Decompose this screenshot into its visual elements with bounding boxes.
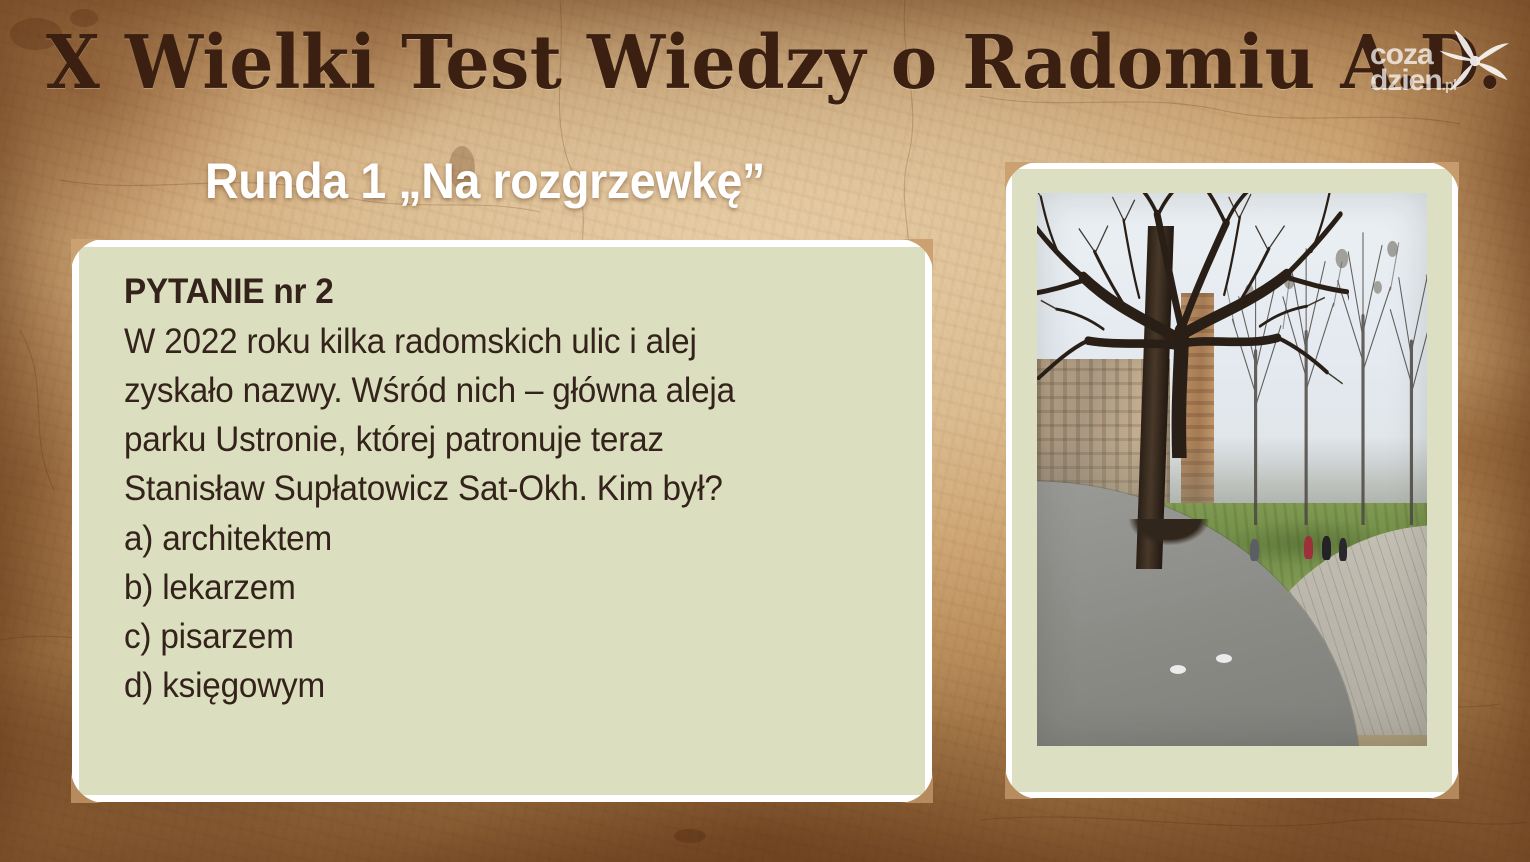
watermark-logo: coza dzien.pl — [1362, 22, 1514, 114]
question-content: PYTANIE nr 2 W 2022 roku kilka radomskic… — [124, 272, 906, 710]
question-body: W 2022 roku kilka radomskich ulic i alej… — [124, 317, 867, 513]
answer-option-c[interactable]: c) pisarzem — [124, 612, 867, 661]
quiz-slide: X Wielki Test Wiedzy o Radomiu A.D. 2023… — [0, 0, 1530, 862]
round-subtitle: Runda 1 „Na rozgrzewkę” — [205, 155, 765, 208]
question-heading: PYTANIE nr 2 — [124, 272, 867, 311]
page-title: X Wielki Test Wiedzy o Radomiu A.D. 2023 — [46, 26, 1484, 100]
pinwheel-flower-icon — [1438, 24, 1512, 98]
answer-option-d[interactable]: d) księgowym — [124, 661, 867, 710]
question-card: PYTANIE nr 2 W 2022 roku kilka radomskic… — [72, 240, 932, 802]
answer-option-b[interactable]: b) lekarzem — [124, 563, 867, 612]
answer-options-list: a) architektem b) lekarzem c) pisarzem d… — [124, 514, 867, 710]
answer-option-a[interactable]: a) architektem — [124, 514, 867, 563]
park-photo — [1037, 193, 1427, 746]
photo-vignette — [1037, 193, 1427, 746]
photo-frame — [1006, 163, 1458, 798]
watermark-line-2: dzien — [1370, 64, 1442, 97]
